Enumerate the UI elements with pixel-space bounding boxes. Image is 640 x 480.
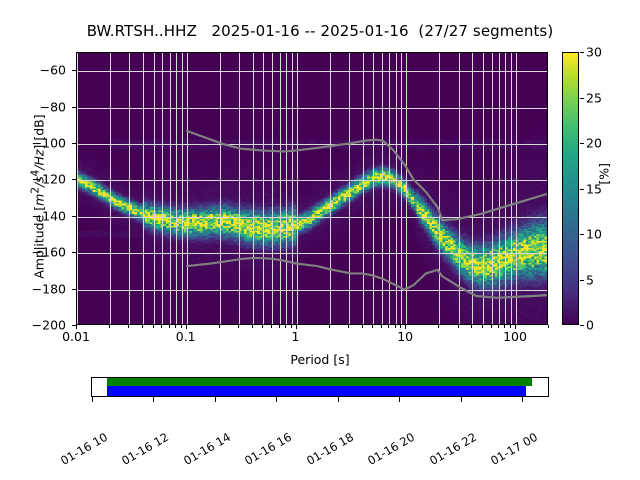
x-tick-minor [510,325,511,328]
x-tick-minor [169,325,170,328]
x-tick-minor [458,325,459,328]
y-tick [72,252,76,253]
colorbar-tick [580,98,584,99]
x-tick-minor [153,325,154,328]
y-tick [72,143,76,144]
timeline-tick-label: 01-16 10 [58,430,110,468]
x-tick-minor [548,325,549,328]
colorbar-tick-label: 10 [586,227,602,242]
x-tick-label: 10 [397,329,413,344]
data-coverage-bar [107,386,526,396]
y-tick [72,70,76,71]
x-tick-minor [471,325,472,328]
x-tick-minor [291,325,292,328]
x-tick-minor [128,325,129,328]
colorbar-tick [580,52,584,53]
x-tick-minor [388,325,389,328]
x-tick-minor [238,325,239,328]
ppsd-plot-area [76,52,548,325]
x-tick-minor [329,325,330,328]
x-tick-minor [381,325,382,328]
x-axis-title: Period [s] [0,352,640,367]
x-tick-minor [395,325,396,328]
segment-timeline[interactable] [91,377,549,397]
x-tick-minor [252,325,253,328]
x-tick-minor [262,325,263,328]
x-tick-minor [491,325,492,328]
y-tick [72,179,76,180]
colorbar [562,52,579,325]
colorbar-tick [580,234,584,235]
x-tick-minor [219,325,220,328]
timeline-tick-label: 01-16 18 [304,430,356,468]
y-tick [72,107,76,108]
used-segments-bar [107,378,533,386]
y-axis-title: Amplitude [m2/s4/Hz] [dB] [29,67,46,327]
x-tick-minor [498,325,499,328]
page-title: BW.RTSH..HHZ 2025-01-16 -- 2025-01-16 (2… [0,22,640,40]
x-tick-minor [504,325,505,328]
x-tick-minor [400,325,401,328]
noise-model-nlnm [186,258,547,298]
x-tick-minor [175,325,176,328]
x-tick-label: 0.01 [62,329,90,344]
x-tick-minor [142,325,143,328]
timeline-tick-label: 01-16 20 [365,430,417,468]
colorbar-label: [%] [597,163,612,185]
x-tick-minor [362,325,363,328]
colorbar-tick-label: 20 [586,136,602,151]
x-tick-label: 100 [503,329,527,344]
timeline-tick-label: 01-16 16 [242,430,294,468]
timeline-tick [92,397,93,402]
noise-model-nhnm [186,131,547,220]
timeline-tick [153,397,154,402]
timeline-tick [461,397,462,402]
noise-model-curves [77,53,547,324]
x-tick-minor [271,325,272,328]
x-tick-minor [279,325,280,328]
y-tick [72,216,76,217]
colorbar-tick-label: 30 [586,45,602,60]
x-tick-minor [161,325,162,328]
x-tick-minor [438,325,439,328]
timeline-tick [338,397,339,402]
timeline-tick [276,397,277,402]
x-tick-minor [285,325,286,328]
colorbar-tick-label: 0 [586,318,594,333]
colorbar-tick-label: 25 [586,90,602,105]
colorbar-tick [580,143,584,144]
colorbar-tick [580,325,584,326]
x-tick-minor [372,325,373,328]
y-tick [72,289,76,290]
colorbar-tick [580,280,584,281]
timeline-tick [399,397,400,402]
timeline-tick [522,397,523,402]
timeline-tick [215,397,216,402]
colorbar-tick [580,189,584,190]
x-tick-label: 1 [292,329,300,344]
ppsd-figure: BW.RTSH..HHZ 2025-01-16 -- 2025-01-16 (2… [0,0,640,480]
timeline-tick-label: 01-16 14 [181,430,233,468]
timeline-tick-label: 01-16 12 [120,430,172,468]
timeline-tick-label: 01-16 22 [427,430,479,468]
x-tick-minor [181,325,182,328]
x-tick-minor [348,325,349,328]
x-tick-minor [482,325,483,328]
x-tick-minor [109,325,110,328]
x-tick-label: 0.1 [176,329,196,344]
colorbar-tick-label: 5 [586,272,594,287]
timeline-tick-label: 01-17 00 [488,430,540,468]
